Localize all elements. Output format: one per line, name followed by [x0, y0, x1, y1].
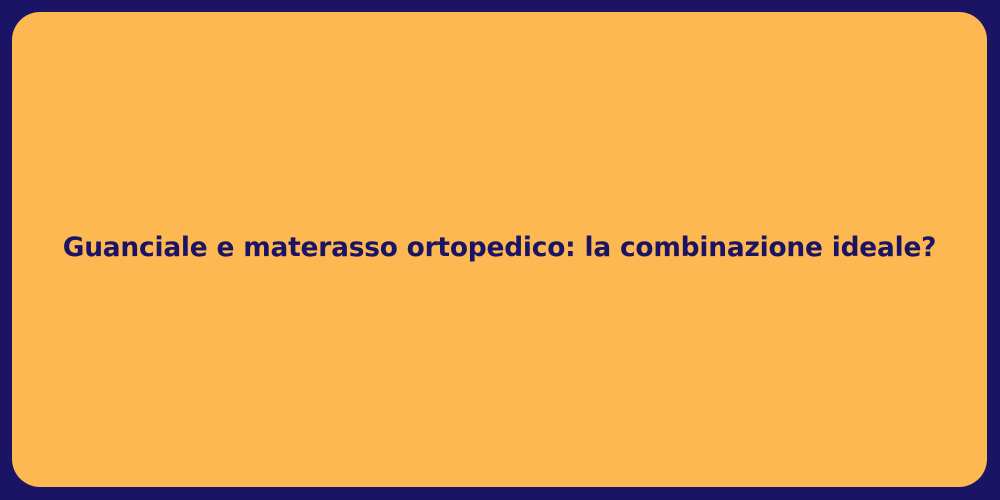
banner-frame: Guanciale e materasso ortopedico: la com… — [0, 0, 1000, 500]
banner-panel: Guanciale e materasso ortopedico: la com… — [12, 12, 987, 487]
page-title: Guanciale e materasso ortopedico: la com… — [33, 231, 967, 264]
